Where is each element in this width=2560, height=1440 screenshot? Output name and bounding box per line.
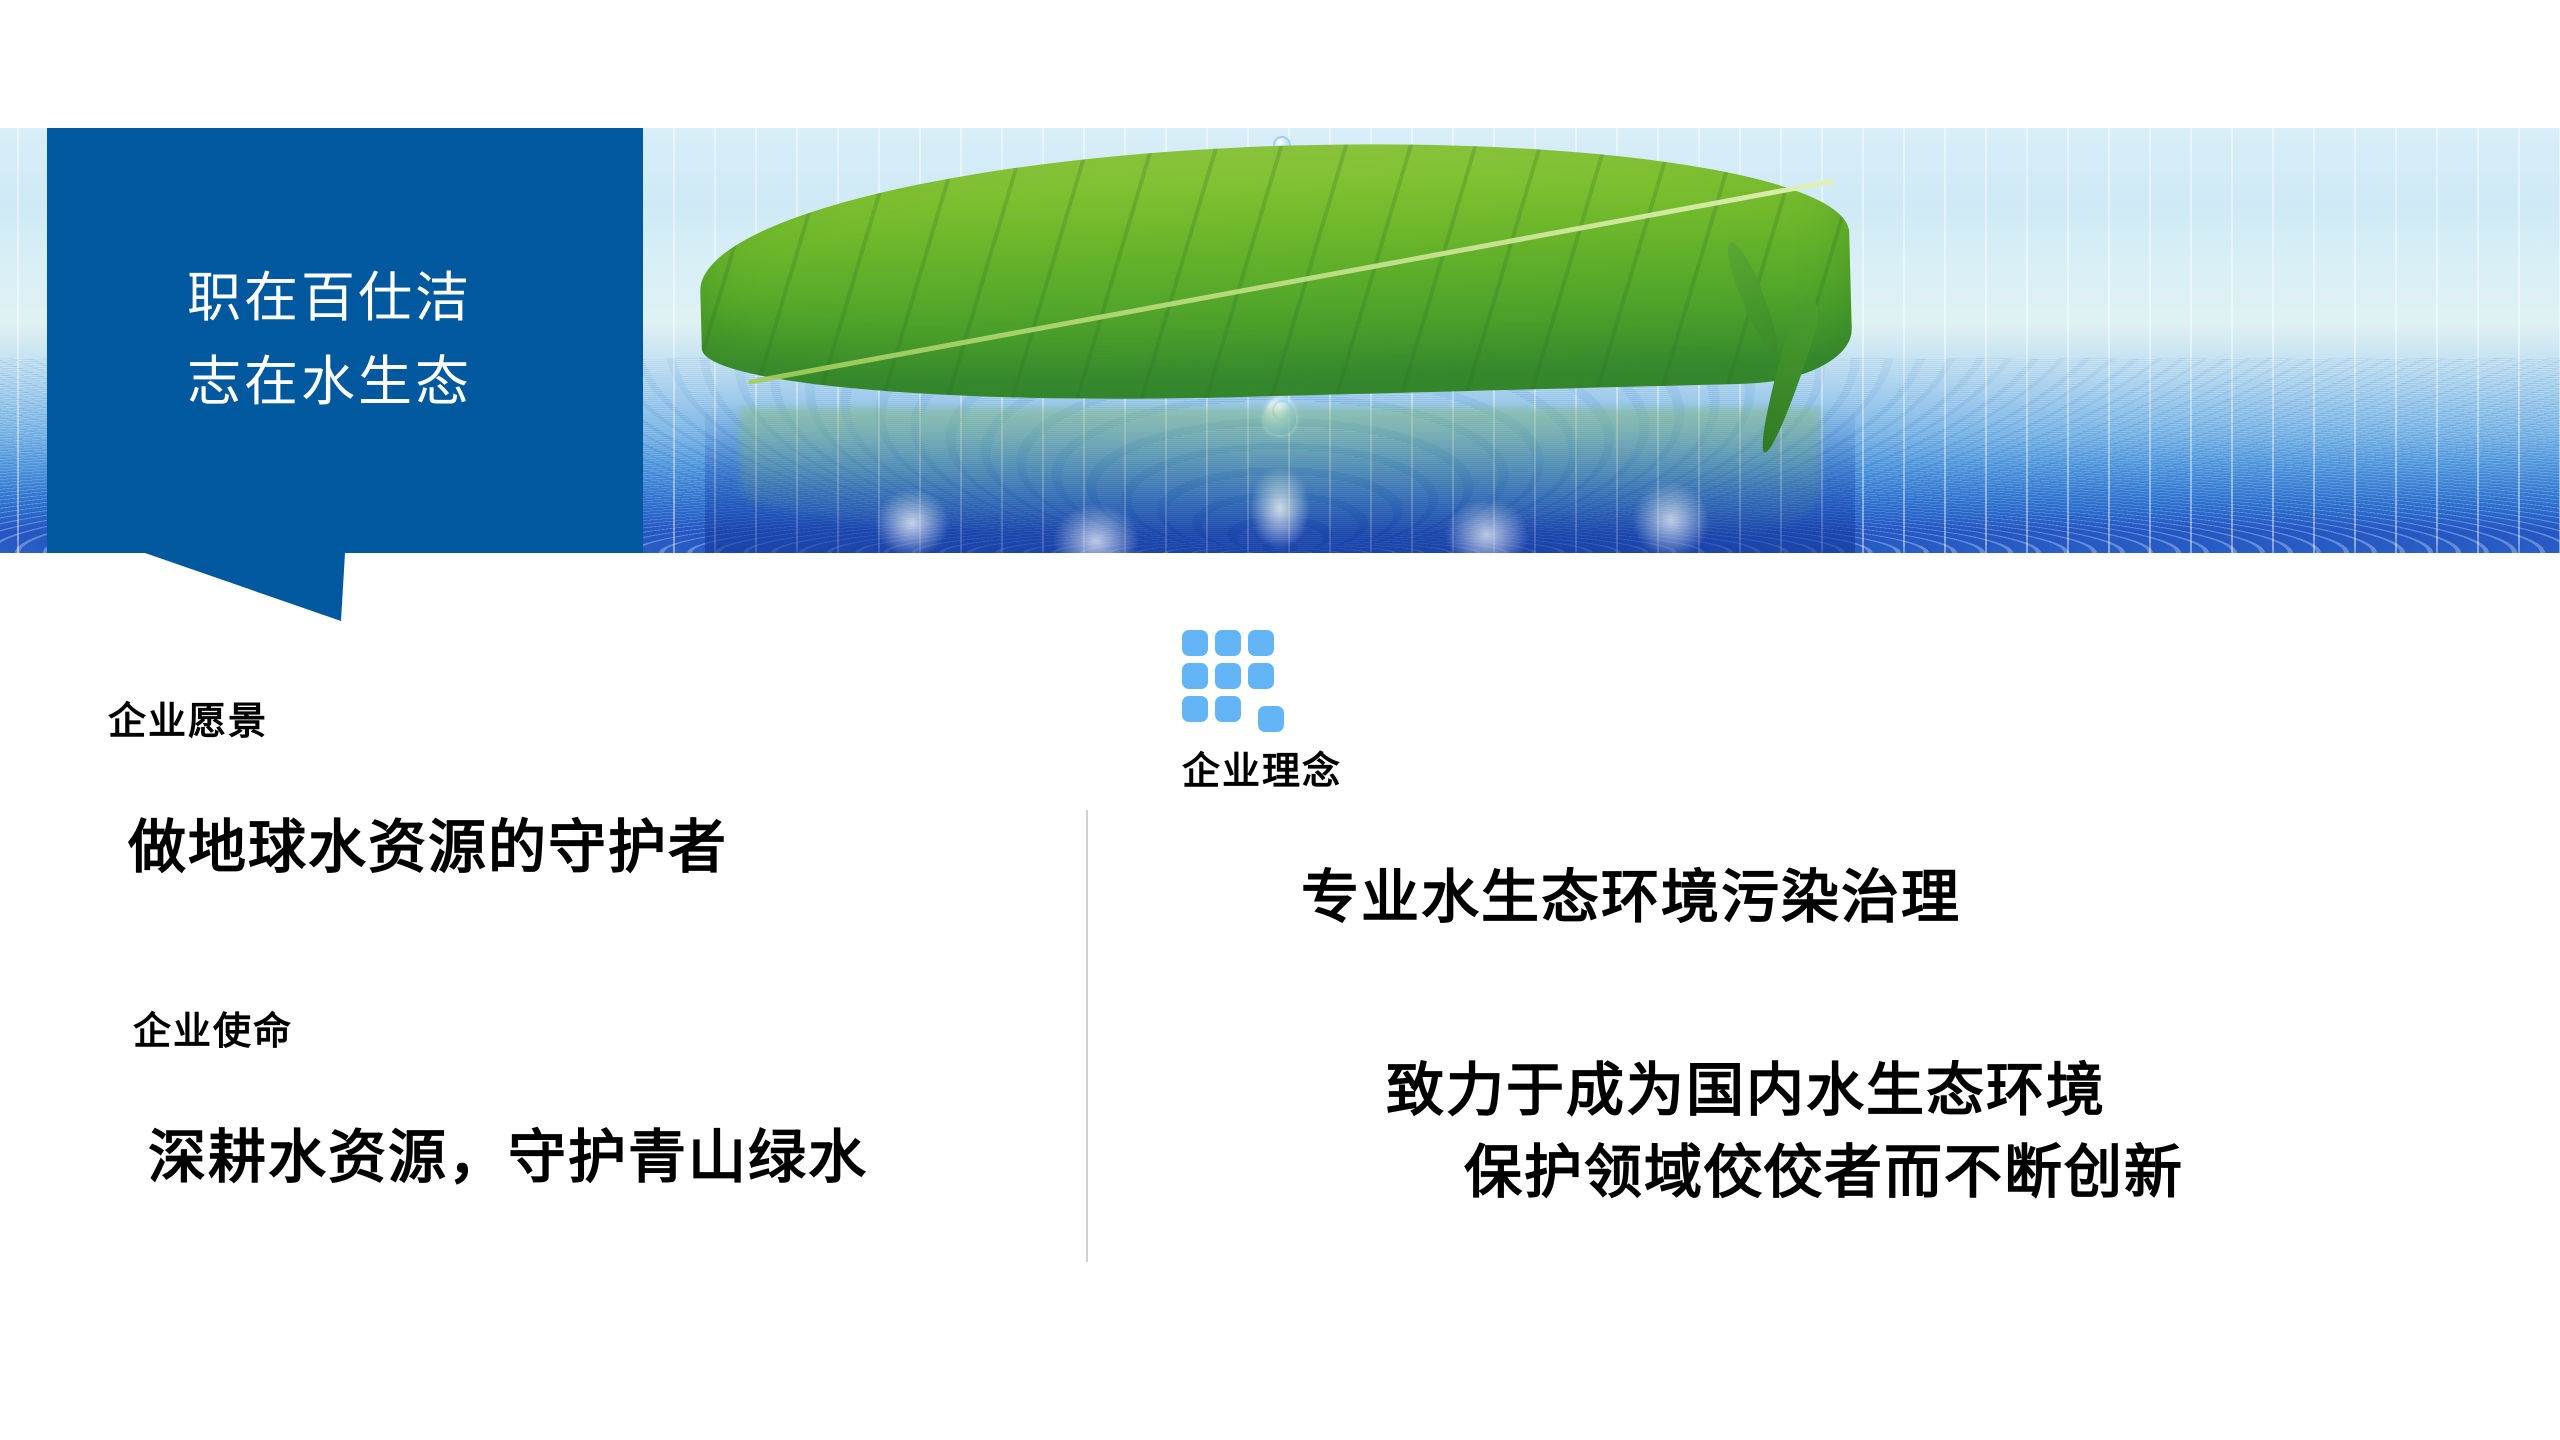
philosophy-extra: 致力于成为国内水生态环境 保护领域佼佼者而不断创新 xyxy=(1386,1050,2184,1215)
mission-body: 深耕水资源，守护青山绿水 xyxy=(148,1110,868,1194)
grid-cell-2 xyxy=(1215,630,1241,656)
slogan-callout-tail xyxy=(145,553,345,621)
grid-cell-5 xyxy=(1215,663,1241,689)
slogan-callout-box: 职在百仕洁 志在水生态 xyxy=(47,128,643,553)
slogan-line-2: 志在水生态 xyxy=(187,341,643,425)
slogan-line-1: 职在百仕洁 xyxy=(187,257,643,341)
leaf-blade xyxy=(697,131,1853,411)
grid-cell-3 xyxy=(1248,630,1274,656)
mission-heading: 企业使命 xyxy=(133,1000,293,1055)
philosophy-extra-line-2: 保护领域佼佼者而不断创新 xyxy=(1386,1132,2184,1214)
vision-body: 做地球水资源的守护者 xyxy=(128,800,728,884)
slogan-text-group: 职在百仕洁 志在水生态 xyxy=(47,128,643,553)
grid-squares-icon xyxy=(1182,630,1286,734)
philosophy-heading: 企业理念 xyxy=(1182,740,1342,795)
grid-cell-1 xyxy=(1182,630,1208,656)
leaf-veins xyxy=(697,131,1853,411)
leaf-reflection xyxy=(740,408,1820,538)
vision-heading: 企业愿景 xyxy=(108,690,268,745)
column-divider xyxy=(1086,810,1088,1262)
grid-cell-9 xyxy=(1258,706,1284,732)
leaf-icon xyxy=(700,146,1980,436)
grid-cell-6 xyxy=(1248,663,1274,689)
grid-cell-7 xyxy=(1182,696,1208,722)
grid-cell-8 xyxy=(1215,696,1241,722)
philosophy-body: 专业水生态环境污染治理 xyxy=(1301,850,1961,934)
grid-cell-4 xyxy=(1182,663,1208,689)
philosophy-extra-line-1: 致力于成为国内水生态环境 xyxy=(1386,1058,2106,1123)
